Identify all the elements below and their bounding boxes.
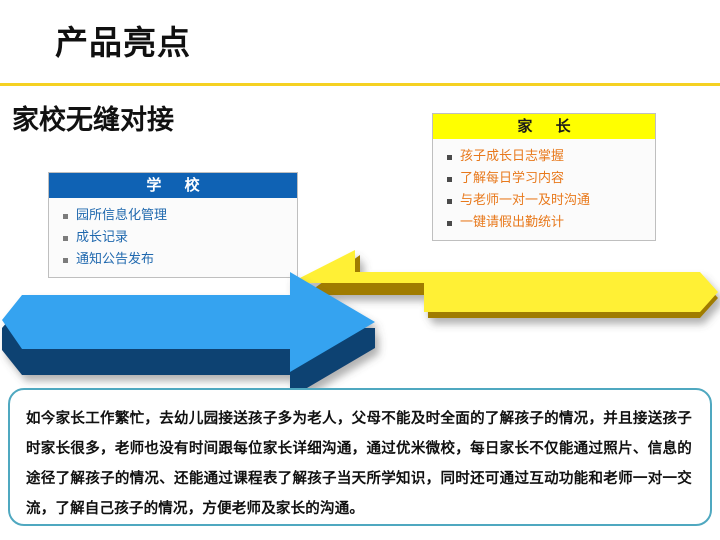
- square-bullet-icon: [447, 155, 452, 160]
- school-panel-header: 学 校: [49, 173, 297, 198]
- square-bullet-icon: [447, 221, 452, 226]
- list-item: 了解每日学习内容: [447, 168, 655, 190]
- square-bullet-icon: [63, 214, 68, 219]
- arrow-diagram: [0, 250, 720, 395]
- blue-right-arrow-icon: [2, 272, 375, 395]
- square-bullet-icon: [447, 177, 452, 182]
- page-title: 产品亮点: [55, 26, 191, 59]
- square-bullet-icon: [447, 199, 452, 204]
- parent-panel-body: 孩子成长日志掌握 了解每日学习内容 与老师一对一及时沟通 一键请假出勤统计: [433, 139, 655, 240]
- slide-canvas: 产品亮点 家校无缝对接 学 校 园所信息化管理 成长记录 通知公告发布 家 长: [0, 0, 720, 540]
- title-divider: [0, 83, 720, 86]
- list-item-label: 成长记录: [76, 227, 128, 249]
- parent-panel-header: 家 长: [433, 114, 655, 139]
- list-item: 一键请假出勤统计: [447, 212, 655, 234]
- section-subtitle: 家校无缝对接: [12, 107, 174, 134]
- yellow-arrow-top-face: [290, 250, 718, 312]
- list-item-label: 一键请假出勤统计: [460, 212, 564, 234]
- list-item-label: 孩子成长日志掌握: [460, 146, 564, 168]
- list-item-label: 了解每日学习内容: [460, 168, 564, 190]
- list-item-label: 与老师一对一及时沟通: [460, 190, 590, 212]
- list-item: 与老师一对一及时沟通: [447, 190, 655, 212]
- list-item: 园所信息化管理: [63, 205, 297, 227]
- description-text: 如今家长工作繁忙，去幼儿园接送孩子多为老人，父母不能及时全面的了解孩子的情况，并…: [10, 390, 710, 524]
- list-item: 成长记录: [63, 227, 297, 249]
- parent-panel: 家 长 孩子成长日志掌握 了解每日学习内容 与老师一对一及时沟通 一键请假出勤统…: [432, 113, 656, 241]
- square-bullet-icon: [63, 236, 68, 241]
- yellow-left-arrow-icon: [290, 250, 718, 318]
- list-item: 孩子成长日志掌握: [447, 146, 655, 168]
- description-box: 如今家长工作繁忙，去幼儿园接送孩子多为老人，父母不能及时全面的了解孩子的情况，并…: [8, 388, 712, 526]
- list-item-label: 园所信息化管理: [76, 205, 167, 227]
